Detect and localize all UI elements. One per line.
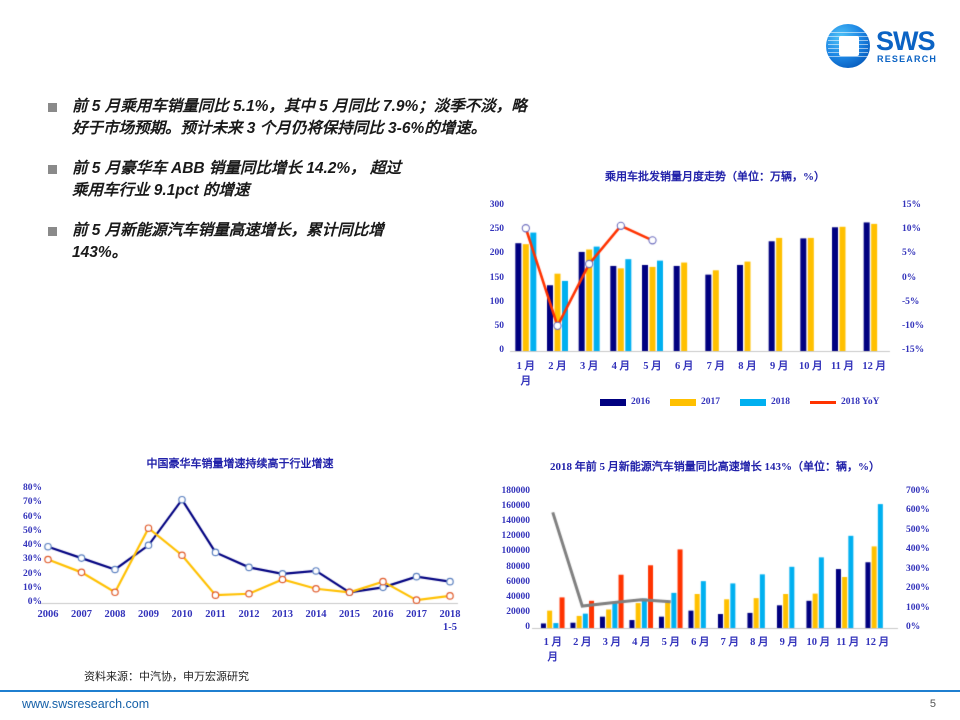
chart-canvas-luxury [0,455,480,655]
y-axis-tick: 20% [2,569,42,579]
y-axis-tick: 10% [2,583,42,593]
bullet-marker-icon [48,165,57,174]
sws-logo-text: SWS [876,26,935,57]
y-axis-tick-right: 0% [902,273,916,283]
footer-url: www.swsresearch.com [22,697,149,711]
legend-item: 2018 YoY [810,397,879,407]
legend-swatch [740,399,766,406]
chart-canvas-nev [470,458,960,663]
y-axis-tick: 60% [2,512,42,522]
bullet-item: 前 5 月豪华车 ABB 销量同比增长 14.2%， 超过乘用车行业 9.1pc… [48,158,528,203]
y-axis-tick-right: 100% [906,603,930,613]
y-axis-tick-left: 200 [472,248,504,258]
bullet-marker-icon [48,103,57,112]
chart-luxury-growth: 中国豪华车销量增速持续高于行业增速 0%10%20%30%40%50%60%70… [0,455,480,655]
y-axis-tick: 0% [2,597,42,607]
chart-nev-sales: 2018 年前 5 月新能源汽车销量同比高速增长 143%（单位：辆，%） 02… [470,458,960,663]
y-axis-tick-left: 150 [472,273,504,283]
y-axis-tick-left: 20000 [470,607,530,617]
y-axis-tick-left: 180000 [470,486,530,496]
legend-label: 2017 [701,397,720,407]
x-axis-tick: 2017 [400,609,434,620]
y-axis-tick-right: 5% [902,248,916,258]
y-axis-tick-right: -10% [902,321,924,331]
legend-item: 2018 [740,397,790,407]
y-axis-tick: 30% [2,554,42,564]
legend-label: 2018 YoY [841,397,879,407]
bullet-text: 前 5 月新能源汽车销量高速增长，累计同比增 143%。 [72,220,402,265]
y-axis-tick-right: 500% [906,525,930,535]
y-axis-tick-left: 40000 [470,592,530,602]
y-axis-tick: 80% [2,483,42,493]
x-axis-tick: 2015 [333,609,367,620]
y-axis-tick-left: 50 [472,321,504,331]
x-axis-tick: 2006 [31,609,65,620]
legend-swatch [670,399,696,406]
y-axis-tick-right: 0% [906,622,920,632]
legend-swatch [810,401,836,404]
bullet-marker-icon [48,227,57,236]
x-axis-tick-sub: 1-5 [433,622,467,633]
legend-item: 2017 [670,397,720,407]
legend-item: 2016 [600,397,650,407]
y-axis-tick-left: 160000 [470,501,530,511]
source-note: 资料来源：中汽协，申万宏源研究 [84,668,249,684]
x-axis-tick: 12 月 [857,634,899,649]
x-axis-tick: 2018 [433,609,467,620]
y-axis-tick-right: -15% [902,345,924,355]
y-axis-tick-left: 120000 [470,531,530,541]
legend-label: 2016 [631,397,650,407]
x-axis-tick: 2009 [132,609,166,620]
y-axis-tick-left: 100 [472,297,504,307]
y-axis-tick-right: 300% [906,564,930,574]
y-axis-tick: 50% [2,526,42,536]
legend-swatch [600,399,626,406]
y-axis-tick-left: 100000 [470,546,530,556]
x-axis-tick: 2011 [199,609,233,620]
legend-label: 2018 [771,397,790,407]
y-axis-tick-left: 140000 [470,516,530,526]
sws-logo: SWS RESEARCH [818,18,944,72]
bullet-item: 前 5 月新能源汽车销量高速增长，累计同比增 143%。 [48,220,528,265]
y-axis-tick: 40% [2,540,42,550]
y-axis-tick-left: 60000 [470,577,530,587]
y-axis-tick: 70% [2,497,42,507]
x-axis-label: 月 [504,373,548,388]
footer-divider [0,690,960,692]
chart-legend: 2016201720182018 YoY [600,397,879,407]
chart-passenger-wholesale: 乘用车批发销量月度走势（单位：万辆，%） 050100150200250300-… [470,168,960,418]
sws-logo-mark [826,24,870,68]
page-number: 5 [930,698,936,710]
bullet-text: 前 5 月豪华车 ABB 销量同比增长 14.2%， 超过乘用车行业 9.1pc… [72,158,402,203]
y-axis-tick-right: 700% [906,486,930,496]
x-axis-tick: 2010 [165,609,199,620]
y-axis-tick-right: 200% [906,583,930,593]
y-axis-tick-right: 15% [902,200,921,210]
y-axis-tick-right: 10% [902,224,921,234]
bullet-item: 前 5 月乘用车销量同比 5.1%，其中 5 月同比 7.9%；淡季不淡，略好于… [48,96,528,141]
x-axis-tick: 12 月 [852,358,896,373]
y-axis-tick-left: 0 [470,622,530,632]
y-axis-tick-left: 80000 [470,562,530,572]
x-axis-tick: 2007 [65,609,99,620]
y-axis-tick-left: 300 [472,200,504,210]
x-axis-tick: 2012 [232,609,266,620]
bullet-text: 前 5 月乘用车销量同比 5.1%，其中 5 月同比 7.9%；淡季不淡，略好于… [72,96,528,141]
sws-logo-subtext: RESEARCH [877,54,937,64]
y-axis-tick-right: -5% [902,297,919,307]
x-axis-tick: 2016 [366,609,400,620]
y-axis-tick-left: 250 [472,224,504,234]
x-axis-tick: 2013 [266,609,300,620]
x-axis-tick: 2014 [299,609,333,620]
y-axis-tick-right: 600% [906,505,930,515]
y-axis-tick-left: 0 [472,345,504,355]
y-axis-tick-right: 400% [906,544,930,554]
x-axis-tick: 2008 [98,609,132,620]
bullet-list: 前 5 月乘用车销量同比 5.1%，其中 5 月同比 7.9%；淡季不淡，略好于… [48,96,528,282]
x-axis-label: 月 [532,649,574,664]
